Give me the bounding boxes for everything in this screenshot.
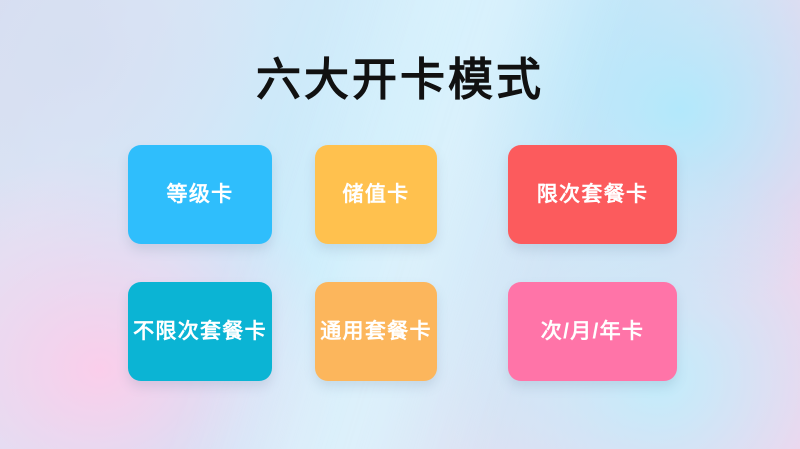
card-grid: 等级卡 储值卡 限次套餐卡 不限次套餐卡 通用套餐卡 次/月/年卡 (128, 145, 677, 381)
card-label: 通用套餐卡 (320, 321, 432, 342)
card-label: 次/月/年卡 (541, 321, 644, 342)
card-general-package[interactable]: 通用套餐卡 (315, 282, 437, 381)
card-unlimited-package[interactable]: 不限次套餐卡 (128, 282, 272, 381)
card-label: 限次套餐卡 (537, 184, 649, 205)
card-level[interactable]: 等级卡 (128, 145, 272, 244)
slide-content: 六大开卡模式 等级卡 储值卡 限次套餐卡 不限次套餐卡 通用套餐卡 (0, 0, 800, 449)
card-count-month-year[interactable]: 次/月/年卡 (508, 282, 677, 381)
card-row-1: 等级卡 储值卡 限次套餐卡 (128, 145, 677, 244)
card-stored-value[interactable]: 储值卡 (315, 145, 437, 244)
card-label: 等级卡 (167, 184, 234, 205)
page-title: 六大开卡模式 (0, 53, 800, 107)
card-row-2: 不限次套餐卡 通用套餐卡 次/月/年卡 (128, 282, 677, 381)
card-label: 不限次套餐卡 (133, 321, 267, 342)
card-label: 储值卡 (343, 184, 410, 205)
slide-canvas: 六大开卡模式 等级卡 储值卡 限次套餐卡 不限次套餐卡 通用套餐卡 (0, 0, 800, 449)
card-limited-package[interactable]: 限次套餐卡 (508, 145, 677, 244)
